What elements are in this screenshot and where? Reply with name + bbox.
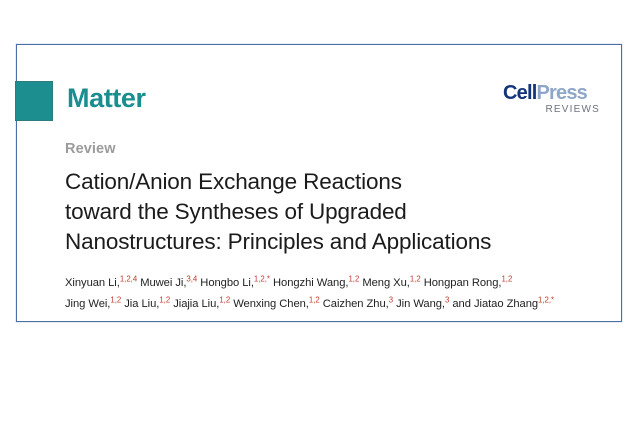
matter-brand-swatch-icon	[15, 81, 53, 121]
cell-press-cell-text: Cell	[503, 82, 536, 104]
author-name: Jin Wang,	[393, 298, 445, 310]
author-name: Hongbo Li,	[197, 277, 254, 289]
article-title-line: Cation/Anion Exchange Reactions	[65, 167, 597, 197]
author-name: Wenxing Chen,	[230, 298, 309, 310]
author-name: Jing Wei,	[65, 298, 110, 310]
author-name: Jia Liu,	[121, 298, 159, 310]
journal-cover-card: Matter CellPress REVIEWS Review Cation/A…	[16, 44, 622, 322]
cell-press-press-text: Press	[536, 82, 587, 104]
article-title-line: toward the Syntheses of Upgraded	[65, 197, 597, 227]
author-name: Meng Xu,	[359, 277, 410, 289]
author-name: and Jiatao Zhang	[449, 298, 538, 310]
author-affiliation-marker: 1,2	[309, 295, 320, 304]
article-type-label: Review	[65, 141, 597, 157]
article-title-line: Nanostructures: Principles and Applicati…	[65, 227, 597, 257]
author-affiliation-marker: 1,2	[159, 295, 170, 304]
cell-press-logo: CellPress REVIEWS	[503, 83, 601, 115]
masthead: Matter CellPress REVIEWS	[17, 45, 621, 131]
article-header: Review Cation/Anion Exchange Reactions t…	[65, 141, 597, 315]
author-line: Xinyuan Li,1,2,4 Muwei Ji,3,4 Hongbo Li,…	[65, 273, 597, 294]
author-name: Hongzhi Wang,	[270, 277, 348, 289]
author-line: Jing Wei,1,2 Jia Liu,1,2 Jiajia Liu,1,2 …	[65, 294, 597, 315]
author-affiliation-marker: 1,2,4	[120, 274, 137, 283]
author-name: Caizhen Zhu,	[320, 298, 389, 310]
author-name: Muwei Ji,	[137, 277, 186, 289]
cell-press-reviews-label: REVIEWS	[503, 105, 601, 115]
author-affiliation-marker: 1,2,*	[254, 274, 270, 283]
author-affiliation-marker: 1,2	[348, 274, 359, 283]
author-name: Jiajia Liu,	[170, 298, 219, 310]
author-list: Xinyuan Li,1,2,4 Muwei Ji,3,4 Hongbo Li,…	[65, 273, 597, 315]
author-affiliation-marker: 1,2	[219, 295, 230, 304]
article-title: Cation/Anion Exchange Reactions toward t…	[65, 167, 597, 257]
author-name: Hongpan Rong,	[421, 277, 502, 289]
author-affiliation-marker: 1,2,*	[538, 295, 554, 304]
cell-press-wordmark: CellPress	[503, 82, 587, 104]
page-root: Matter CellPress REVIEWS Review Cation/A…	[0, 0, 640, 426]
author-affiliation-marker: 1,2	[110, 295, 121, 304]
author-affiliation-marker: 3,4	[186, 274, 197, 283]
author-name: Xinyuan Li,	[65, 277, 120, 289]
journal-wordmark: Matter	[67, 83, 146, 113]
author-affiliation-marker: 1,2	[410, 274, 421, 283]
author-affiliation-marker: 1,2	[501, 274, 512, 283]
